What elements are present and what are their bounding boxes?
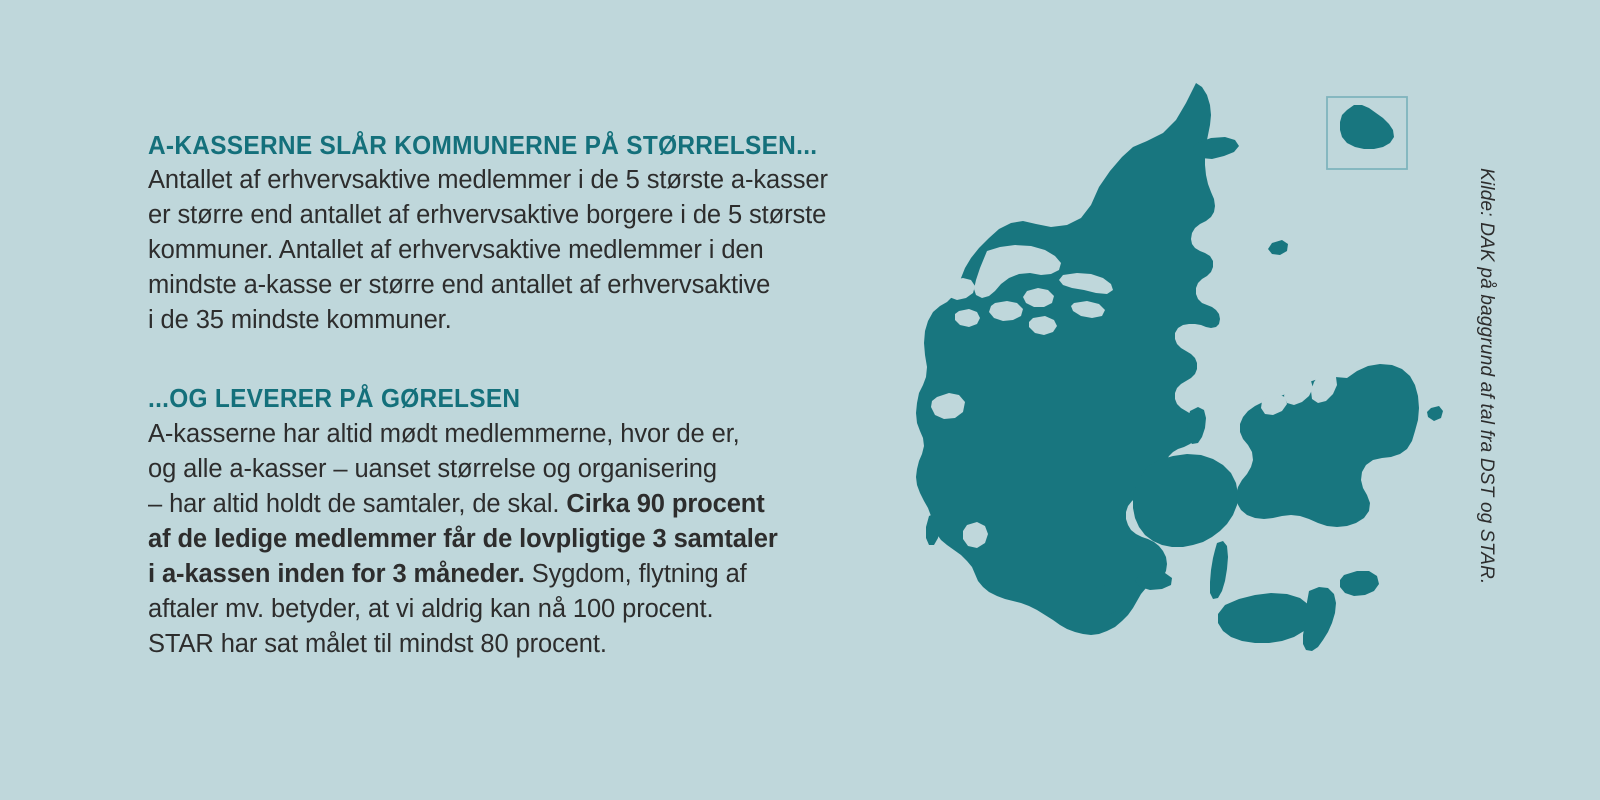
body-line: og alle a-kasser – uanset størrelse og o… [148, 452, 908, 487]
text-column: A-KASSERNE SLÅR KOMMUNERNE PÅ STØRRELSEN… [148, 132, 908, 662]
body-paragraph-delivery: A-kasserne har altid mødt medlemmerne, h… [148, 417, 908, 662]
body-line: er større end antallet af erhvervsaktive… [148, 198, 908, 233]
source-credit: Kilde: DAK på baggrund af tal fra DST og… [1475, 168, 1497, 585]
body-line: mindste a-kasse er større end antallet a… [148, 268, 908, 303]
moen-landmass [1340, 571, 1379, 596]
body-line: A-kasserne har altid mødt medlemmerne, h… [148, 417, 908, 452]
body-line-mixed: – har altid holdt de samtaler, de skal. … [148, 487, 908, 522]
body-paragraph-size: Antallet af erhvervsaktive medlemmer i d… [148, 163, 908, 338]
body-line: i de 35 mindste kommuner. [148, 303, 908, 338]
body-line: Antallet af erhvervsaktive medlemmer i d… [148, 163, 908, 198]
denmark-map [895, 75, 1475, 715]
bornholm-landmass [1340, 105, 1394, 149]
body-text-fragment: Sygdom, flytning af [525, 560, 747, 588]
body-text-fragment: – har altid holdt de samtaler, de skal. [148, 490, 566, 518]
funen-landmass [1133, 454, 1238, 547]
small-island-east [1427, 406, 1443, 421]
body-text-emphasis: i a-kassen inden for 3 måneder. [148, 560, 525, 588]
jutland-landmass [916, 83, 1220, 635]
anholt-landmass [1268, 240, 1288, 255]
body-line: STAR har sat målet til mindst 80 procent… [148, 627, 908, 662]
body-line-emphasis: af de ledige medlemmer får de lovpligtig… [148, 522, 908, 557]
samsoe-landmass [1187, 407, 1206, 444]
text-block-delivery: ...OG LEVERER PÅ GØRELSEN A-kasserne har… [148, 385, 908, 661]
heading-og-leverer-paa-goerelsen: ...OG LEVERER PÅ GØRELSEN [148, 385, 862, 412]
fanoe-landmass [926, 513, 940, 545]
text-block-size: A-KASSERNE SLÅR KOMMUNERNE PÅ STØRRELSEN… [148, 132, 908, 338]
infographic-root: A-KASSERNE SLÅR KOMMUNERNE PÅ STØRRELSEN… [0, 0, 1600, 800]
body-line: kommuner. Antallet af erhvervsaktive med… [148, 233, 908, 268]
falster-landmass [1303, 587, 1336, 651]
body-line-mixed: i a-kassen inden for 3 måneder. Sygdom, … [148, 557, 908, 592]
heading-a-kasserne-slaar-kommunerne: A-KASSERNE SLÅR KOMMUNERNE PÅ STØRRELSEN… [148, 132, 862, 159]
lolland-landmass [1218, 593, 1313, 643]
langeland-landmass [1210, 541, 1228, 599]
body-text-emphasis: af de ledige medlemmer får de lovpligtig… [148, 525, 778, 553]
body-text-emphasis: Cirka 90 procent [566, 490, 764, 518]
map-landmasses [916, 83, 1443, 651]
body-line: aftaler mv. betyder, at vi aldrig kan nå… [148, 592, 908, 627]
